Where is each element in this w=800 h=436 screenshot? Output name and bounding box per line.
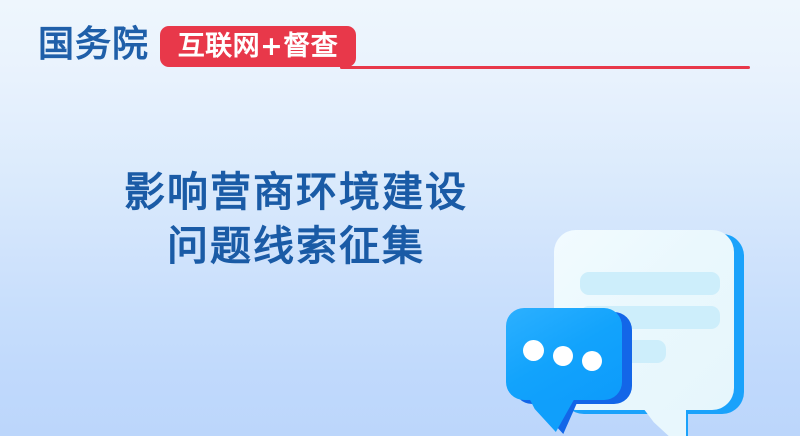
badge-label: 互联网+督查	[178, 32, 339, 62]
internet-plus-supervision-badge: 互联网+督查	[160, 26, 356, 67]
banner-header: 国务院 互联网+督查	[0, 0, 800, 90]
typing-dot-1	[523, 340, 544, 361]
title-line-2: 问题线索征集	[66, 219, 526, 273]
banner-title: 影响营商环境建设 问题线索征集	[66, 165, 526, 273]
back-bubble-text-line-1	[580, 272, 720, 295]
typing-dot-2	[553, 346, 573, 366]
state-council-logo-text: 国务院	[38, 24, 149, 66]
speech-bubbles-illustration	[490, 220, 760, 436]
title-line-1: 影响营商环境建设	[66, 165, 526, 219]
typing-dot-3	[582, 351, 602, 371]
promo-banner: 国务院 互联网+督查 影响营商环境建设 问题线索征集	[0, 0, 800, 436]
header-divider-rule	[340, 66, 750, 69]
